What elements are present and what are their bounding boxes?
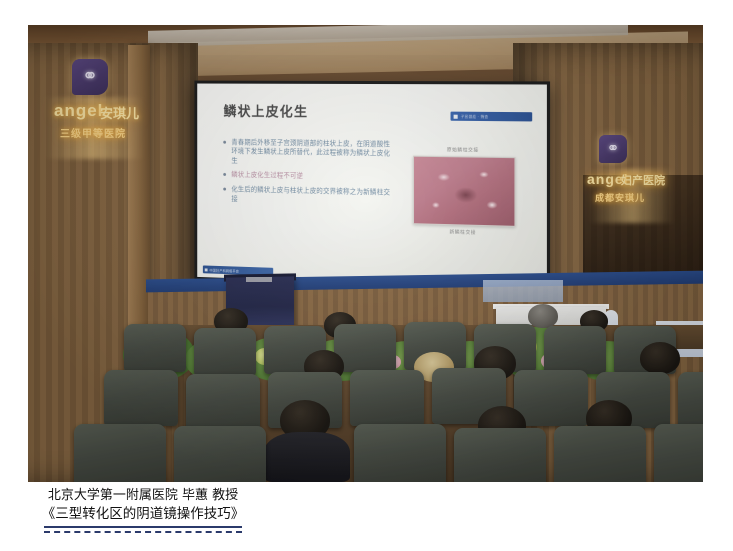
audience-seat: [544, 326, 606, 374]
audience-seat: [654, 424, 703, 482]
badge-square-icon: [454, 114, 458, 118]
sign-brand-cn: 妇产医院: [621, 172, 665, 188]
audience-head: [528, 304, 558, 328]
caption-line-topic: 《三型转化区的阴道镜操作技巧》: [28, 505, 258, 524]
audience-seat: [186, 374, 260, 430]
sign-subtitle: 三级甲等医院: [60, 125, 126, 140]
bullet-dot-icon: ●: [223, 185, 227, 203]
mother-and-child-icon: ⚭: [72, 65, 108, 89]
bullet-dot-icon: ●: [223, 138, 227, 166]
slide-badge-text: 子宫颈癌 · 筛查: [461, 114, 489, 119]
audience-seat: [554, 426, 646, 482]
audience-seat: [74, 424, 166, 482]
angel-logo-badge: ⚭: [599, 135, 627, 163]
audience-seat: [514, 370, 588, 426]
audience-seat: [350, 370, 424, 426]
sign-brand-en: angel: [54, 101, 103, 121]
slide-watermark-text: 中国妇产科网络平台: [209, 267, 239, 273]
slide-bullet-text: 化生后的鳞状上皮与柱状上皮的交界被称之为新鳞柱交接: [231, 185, 393, 207]
caption-rules: [44, 526, 244, 533]
audience-head: [640, 342, 680, 374]
audience-seat: [104, 370, 178, 426]
brand-sign-left: ⚭ angel 安琪儿 三级甲等医院: [50, 55, 142, 171]
slide-bullet-list: ● 青春期后外移至子宫颈阴道部的柱状上皮，在阴道酸性环境下发生鳞状上皮所替代，此…: [223, 138, 393, 212]
bullet-dot-icon: ●: [223, 171, 227, 181]
slide-bullet: ● 化生后的鳞状上皮与柱状上皮的交界被称之为新鳞柱交接: [223, 185, 393, 207]
audience-seating: [28, 302, 703, 482]
figure-caption-top: 原始鳞柱交接: [413, 147, 513, 154]
caption-rule-dashed: [44, 531, 242, 533]
slide-bullet: ● 青春期后外移至子宫颈阴道部的柱状上皮，在阴道酸性环境下发生鳞状上皮所替代，此…: [223, 138, 393, 168]
caption-line-speaker: 北京大学第一附属医院 毕蕙 教授: [28, 486, 258, 505]
slide-bullet-text: 青春期后外移至子宫颈阴道部的柱状上皮，在阴道酸性环境下发生鳞状上皮所替代，此过程…: [231, 138, 393, 168]
secondary-screen: [483, 280, 563, 302]
slide-figure: 原始鳞柱交接 新鳞柱交接: [413, 147, 513, 237]
brand-sign-right: ⚭ angel 妇产医院 成都安琪儿: [593, 133, 671, 233]
audience-seat: [678, 372, 703, 428]
audience-seat: [194, 328, 256, 376]
slide-bullet: ● 鳞状上皮化生过程不可逆: [223, 171, 393, 184]
conference-photo: 鳞状上皮化生 子宫颈癌 · 筛查 ● 青春期后外移至子宫颈阴道部的柱状上皮，在阴…: [28, 25, 703, 482]
audience-shoulders: [264, 432, 350, 482]
sign-subtitle: 成都安琪儿: [595, 191, 645, 204]
audience-seat: [124, 324, 186, 372]
presentation-slide: 鳞状上皮化生 子宫颈癌 · 筛查 ● 青春期后外移至子宫颈阴道部的柱状上皮，在阴…: [197, 84, 547, 290]
slide-title: 鳞状上皮化生: [224, 100, 309, 120]
colposcopy-cervix-image: [413, 156, 515, 227]
angel-logo-badge: ⚭: [72, 59, 108, 95]
figure-caption-bottom: 新鳞柱交接: [413, 228, 513, 237]
audience-seat: [174, 426, 266, 482]
sign-brand-cn: 安琪儿: [100, 103, 139, 122]
caption-block: 北京大学第一附属医院 毕蕙 教授 《三型转化区的阴道镜操作技巧》: [28, 486, 703, 533]
projection-screen: 鳞状上皮化生 子宫颈癌 · 筛查 ● 青春期后外移至子宫颈阴道部的柱状上皮，在阴…: [194, 81, 550, 293]
audience-seat: [454, 428, 546, 482]
slide-bullet-text: 鳞状上皮化生过程不可逆: [231, 171, 303, 182]
audience-seat: [354, 424, 446, 482]
mother-and-child-icon: ⚭: [599, 139, 627, 158]
watermark-square-icon: [205, 268, 208, 271]
caption-rule-solid: [44, 526, 242, 528]
slide-corner-badge: 子宫颈癌 · 筛查: [451, 112, 533, 122]
podium-nameplate: [246, 277, 272, 282]
